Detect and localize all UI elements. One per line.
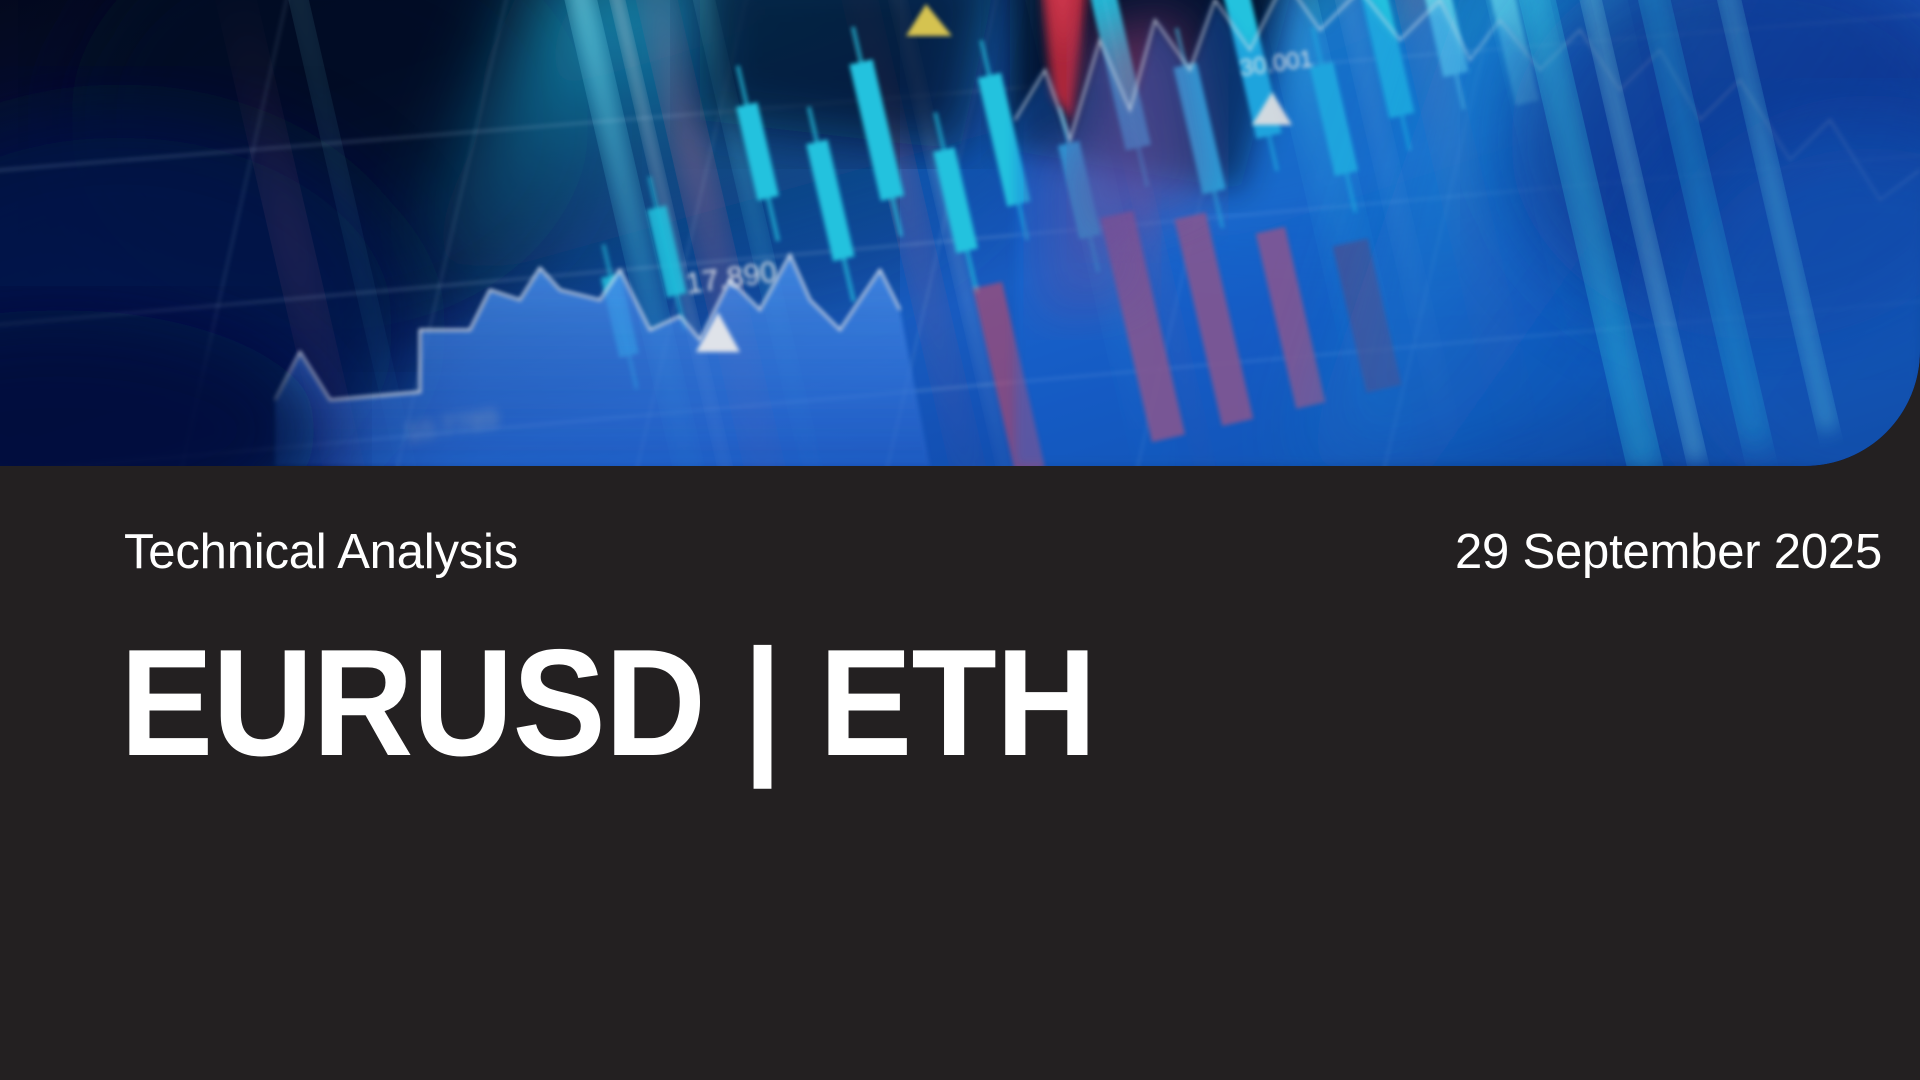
publication-date: 29 September 2025 <box>1455 528 1882 577</box>
technical-analysis-banner: 17.890 30.001 10.7789 Technical A <box>0 0 1920 1080</box>
page-title: EURUSD | ETH <box>120 627 1096 779</box>
hero-image: 17.890 30.001 10.7789 <box>0 0 1920 466</box>
eyebrow-label: Technical Analysis <box>124 528 518 577</box>
meta-row: Technical Analysis 29 September 2025 <box>0 516 1920 588</box>
hero-chart-artwork: 17.890 30.001 10.7789 <box>0 0 1920 466</box>
